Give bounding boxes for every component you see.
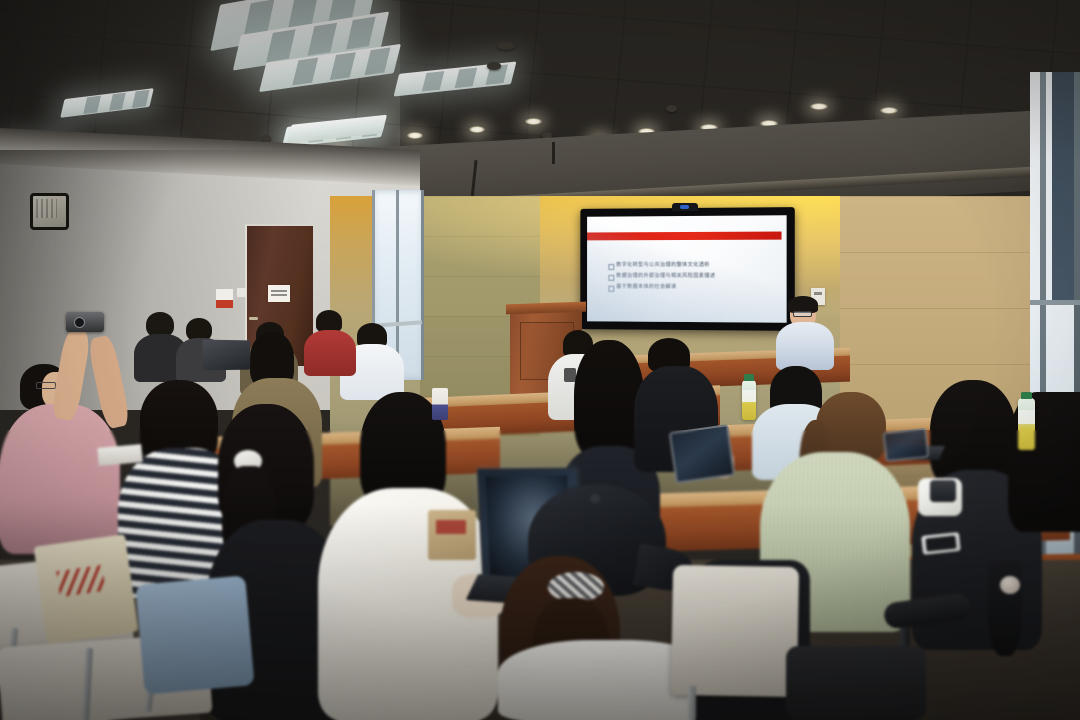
window-transom bbox=[1030, 300, 1080, 305]
water-bottle[interactable] bbox=[1018, 398, 1035, 450]
bottle-cap bbox=[744, 374, 754, 381]
recessed-downlight bbox=[810, 103, 828, 110]
wall-clock-face bbox=[36, 199, 57, 218]
recessed-downlight bbox=[407, 132, 423, 139]
camera-phone[interactable] bbox=[66, 312, 104, 332]
ceiling-sensor bbox=[497, 42, 515, 50]
bottle-label bbox=[1018, 410, 1035, 424]
webcam-led bbox=[680, 205, 689, 209]
denim-jacket bbox=[135, 575, 254, 694]
wall-notice-sign bbox=[216, 289, 233, 308]
hanging-bag bbox=[988, 560, 1022, 656]
thermos-flask[interactable] bbox=[930, 480, 956, 502]
recessed-downlight bbox=[525, 118, 542, 125]
door-notice-sign bbox=[268, 285, 290, 302]
screen-glare bbox=[587, 215, 787, 322]
bag-keychain bbox=[1000, 576, 1020, 594]
laptop[interactable] bbox=[203, 340, 251, 371]
tablet[interactable] bbox=[883, 428, 930, 462]
wall-box-vent bbox=[814, 292, 822, 295]
attendee-hair bbox=[316, 310, 342, 332]
presenter-torso bbox=[776, 322, 834, 370]
ceiling-sensor bbox=[666, 105, 677, 112]
photographer-glasses-icon bbox=[36, 382, 56, 389]
presenter-glasses-icon bbox=[793, 311, 812, 317]
thermos-cup[interactable] bbox=[432, 388, 448, 420]
tablet[interactable] bbox=[669, 424, 736, 484]
window-pane-dark bbox=[1052, 72, 1074, 302]
tote-bag-print bbox=[436, 520, 466, 534]
chair-leg bbox=[688, 686, 696, 720]
cap-button bbox=[590, 494, 600, 503]
tote-bag bbox=[428, 510, 476, 560]
camera-lens-icon bbox=[74, 317, 85, 328]
notebook bbox=[97, 444, 142, 466]
wall-switch-plate[interactable] bbox=[237, 288, 246, 297]
recessed-downlight bbox=[880, 107, 898, 114]
ceiling-sensor bbox=[487, 62, 501, 70]
attendee-torso bbox=[304, 330, 356, 376]
lecture-hall-photo: 数字化转型与公共治理的整体文化透析 数据治理的外部治理与相关风险因素描述 基于数… bbox=[0, 0, 1080, 720]
stacking-chair[interactable] bbox=[671, 565, 799, 697]
recessed-downlight bbox=[469, 126, 485, 133]
photographer-torso bbox=[0, 404, 120, 554]
projector-mount bbox=[552, 142, 555, 164]
door-handle[interactable] bbox=[249, 317, 258, 320]
bottle-cap bbox=[1021, 392, 1032, 399]
chair-back bbox=[786, 646, 926, 720]
bottle-label bbox=[742, 390, 756, 402]
